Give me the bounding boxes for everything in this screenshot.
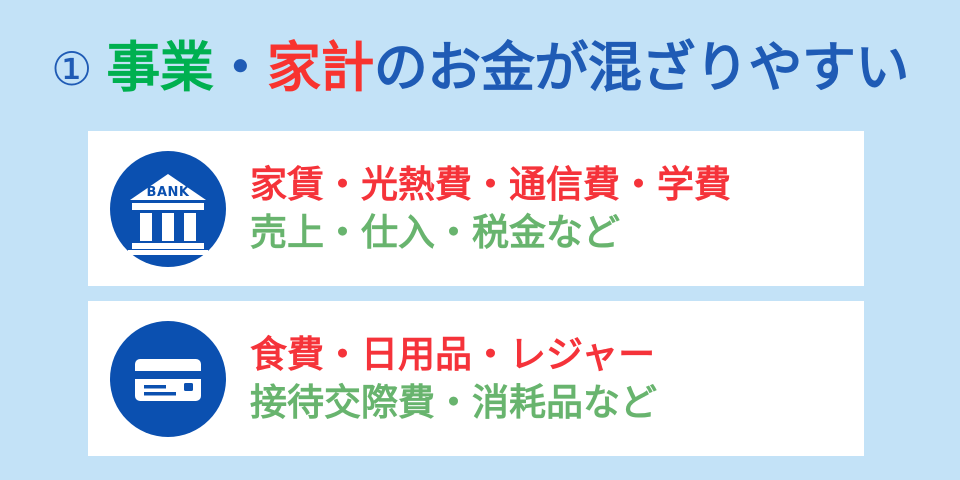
title-segment-green: 事業 [106, 41, 213, 95]
card-text-block: 食費・日用品・レジャー 接待交際費・消耗品など [250, 333, 657, 424]
slide-root: ① 事業 ・ 家計 のお金が混ざりやすい BANK [0, 0, 960, 480]
svg-text:BANK: BANK [147, 185, 190, 200]
card-line-green: 売上・仕入・税金など [250, 211, 731, 255]
credit-card-icon [110, 321, 226, 437]
card-line-green: 接待交際費・消耗品など [250, 381, 657, 425]
title-segment-blue: のお金が混ざりやすい [374, 41, 909, 95]
card-line-red: 食費・日用品・レジャー [250, 333, 657, 377]
page-title: ① 事業 ・ 家計 のお金が混ざりやすい [0, 32, 960, 104]
info-card-bank: BANK 家賃・光熱費・通信費・学費 売上・仕入・税金など [88, 131, 864, 286]
card-line-red: 家賃・光熱費・通信費・学費 [250, 163, 731, 207]
info-card-credit-card: 食費・日用品・レジャー 接待交際費・消耗品など [88, 301, 864, 456]
title-segment-red: 家計 [267, 41, 374, 95]
bank-icon: BANK [110, 151, 226, 267]
title-segment-separator: ・ [213, 41, 267, 95]
card-text-block: 家賃・光熱費・通信費・学費 売上・仕入・税金など [250, 163, 731, 254]
title-number-badge: ① [51, 46, 92, 92]
